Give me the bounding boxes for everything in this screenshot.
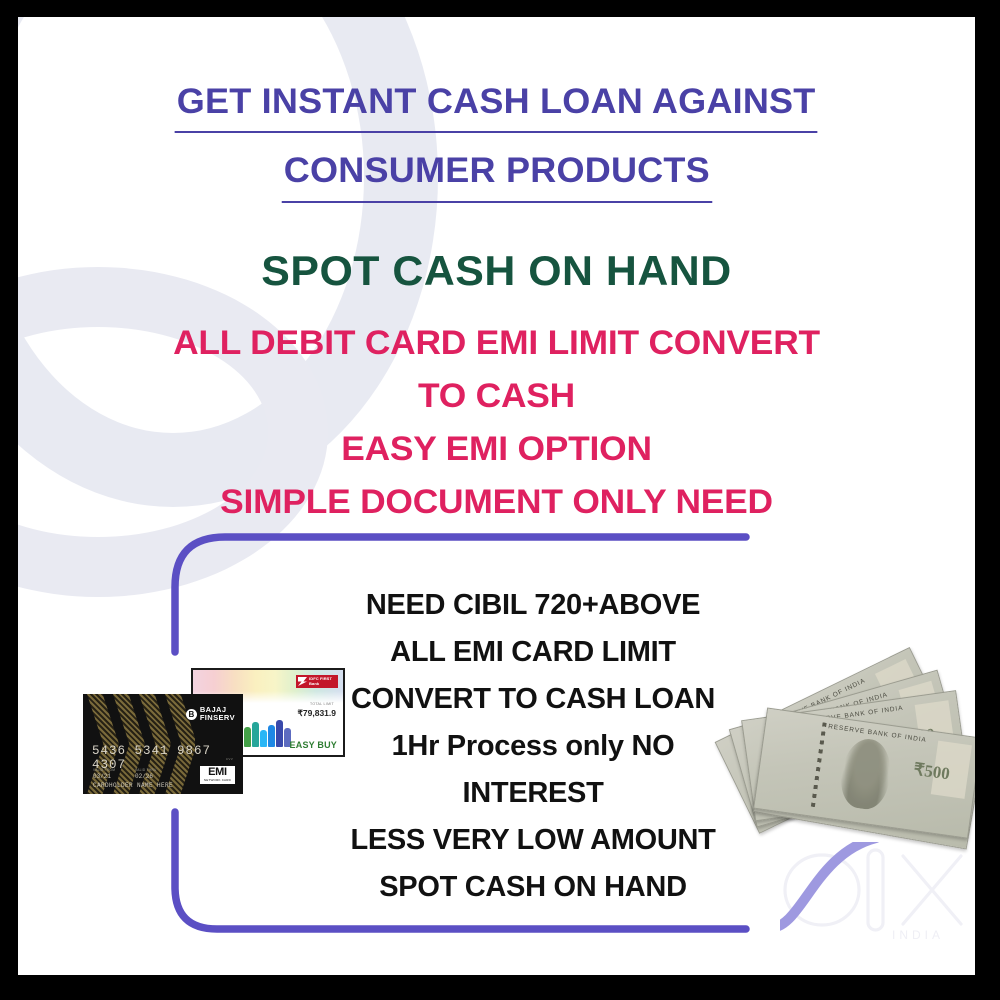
subheadline-spot-cash: SPOT CASH ON HAND: [18, 247, 975, 295]
detail-line-6: LESS VERY LOW AMOUNT: [338, 817, 728, 864]
detail-line-1: NEED CIBIL 720+ABOVE: [338, 582, 728, 629]
bajaj-cvv-label: CVV: [226, 757, 233, 761]
bajaj-valid-thru-value: 02/26: [135, 773, 153, 780]
detail-line-3: CONVERT TO CASH LOAN: [338, 676, 728, 723]
bajaj-emi-badge-title: EMI: [204, 767, 231, 778]
detail-line-7: SPOT CASH ON HAND: [338, 864, 728, 911]
note-security-strip: [810, 722, 826, 810]
offer-list: ALL DEBIT CARD EMI LIMIT CONVERT TO CASH…: [18, 317, 975, 529]
bajaj-cardholder-name: CARDHOLDER NAME HERE: [93, 782, 173, 789]
idfc-bank-line-2: Bank: [309, 681, 319, 686]
bajaj-valid-from-value: 03/21: [93, 773, 111, 780]
olx-region-label: INDIA: [892, 928, 944, 942]
offer-line-2: TO CASH: [18, 370, 975, 423]
bajaj-emi-network-badge: EMI NETWORK CARD: [200, 766, 235, 784]
bajaj-valid-from-label: VALID FROM: [93, 768, 115, 772]
idfc-bank-name: IDFC FIRST Bank: [309, 677, 332, 685]
poster-canvas: GET INSTANT CASH LOAN AGAINST CONSUMER P…: [18, 17, 975, 975]
idfc-first-bank-logo: IDFC FIRST Bank: [296, 675, 338, 688]
indian-rupee-notes-image: RESERVE BANK OF INDIA₹500RESERVE BANK OF…: [740, 597, 975, 862]
bajaj-emi-badge-subtitle: NETWORK CARD: [204, 778, 231, 782]
detail-line-2: ALL EMI CARD LIMIT: [338, 629, 728, 676]
bajaj-valid-thru-label: VALID THRU: [135, 768, 157, 772]
detail-line-4: 1Hr Process only NO: [338, 723, 728, 770]
bajaj-finserv-emi-card: B BAJAJ FINSERV 5436 5341 9867 4307 VALI…: [83, 694, 243, 794]
idfc-person-silhouette-icon: [252, 722, 259, 747]
note-denomination: ₹500: [912, 760, 951, 785]
headline-line-1: GET INSTANT CASH LOAN AGAINST: [175, 75, 818, 133]
idfc-person-silhouette-icon: [276, 720, 283, 747]
offer-line-3: EASY EMI OPTION: [18, 423, 975, 476]
poster-content: GET INSTANT CASH LOAN AGAINST CONSUMER P…: [18, 17, 975, 975]
headline-line-2: CONSUMER PRODUCTS: [281, 144, 711, 202]
idfc-person-silhouette-icon: [260, 730, 267, 747]
idfc-right-label: TOTAL LIMIT: [310, 702, 334, 706]
olx-watermark: INDIA: [780, 842, 965, 947]
bajaj-brand-line-2: FINSERV: [200, 713, 235, 722]
bajaj-finserv-logo: B BAJAJ FINSERV: [186, 706, 235, 722]
idfc-easy-buy-tagline: EASY BUY: [290, 740, 337, 750]
gandhi-portrait-icon: [837, 736, 894, 812]
bajaj-brand-text: BAJAJ FINSERV: [200, 706, 235, 722]
credit-cards-image: IDFC FIRST Bank AVAILABLE LIMIT 38 TOTAL…: [73, 662, 353, 812]
idfc-logo-mark-icon: [298, 677, 307, 686]
olx-l-letter-icon: [868, 850, 883, 930]
offer-line-1: ALL DEBIT CARD EMI LIMIT CONVERT: [18, 317, 975, 370]
detail-list: NEED CIBIL 720+ABOVE ALL EMI CARD LIMIT …: [338, 582, 728, 911]
idfc-person-silhouette-icon: [244, 727, 251, 747]
headline: GET INSTANT CASH LOAN AGAINST CONSUMER P…: [18, 75, 975, 203]
detail-line-5: INTEREST: [338, 770, 728, 817]
offer-line-4: SIMPLE DOCUMENT ONLY NEED: [18, 476, 975, 529]
bajaj-logo-mark-icon: B: [186, 709, 197, 720]
idfc-person-silhouette-icon: [268, 725, 275, 747]
olx-x-letter-icon: [903, 856, 961, 924]
